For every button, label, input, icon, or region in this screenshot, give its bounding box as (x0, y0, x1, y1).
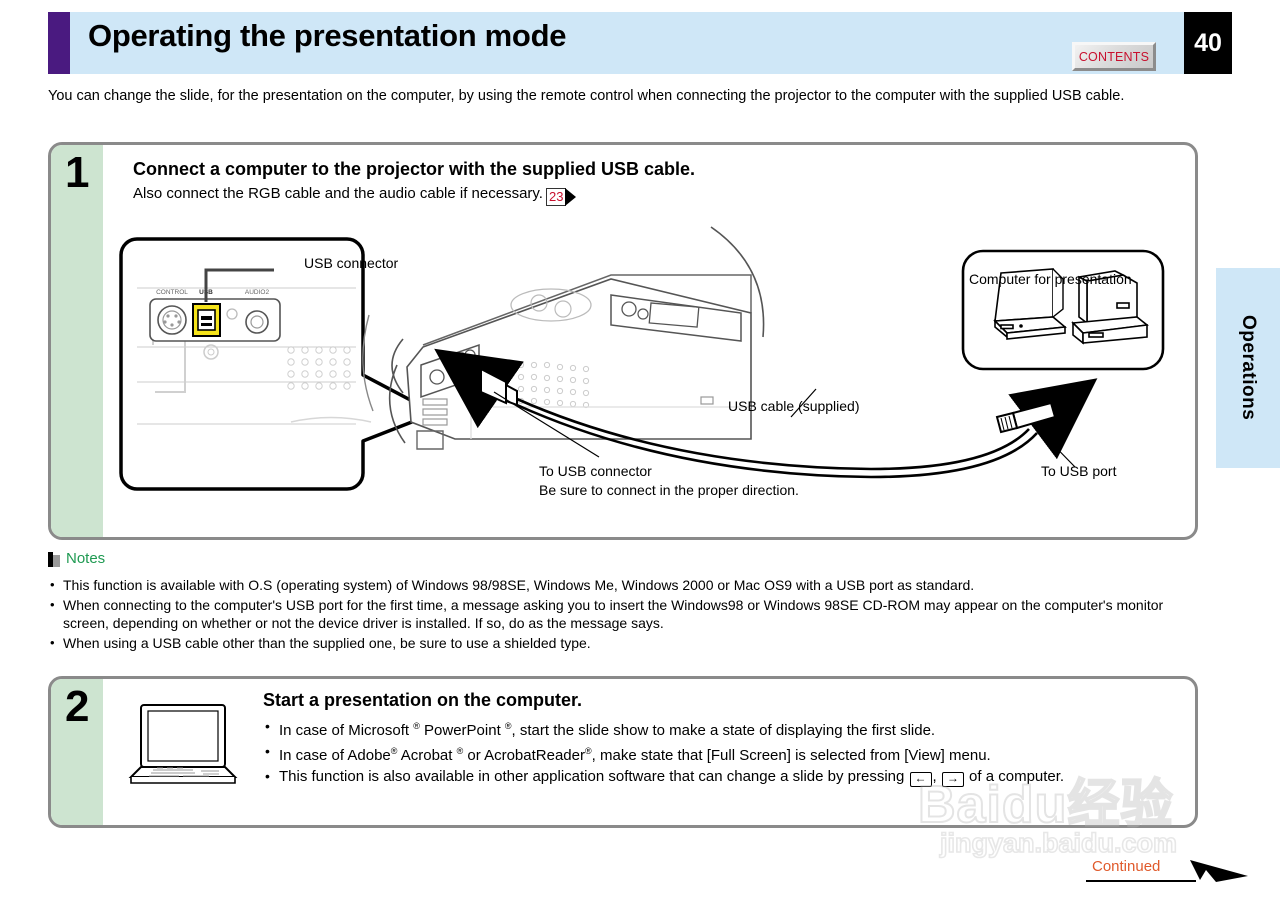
to-usb-port-label: To USB port (1041, 463, 1116, 479)
step-1-subtitle-row: Also connect the RGB cable and the audio… (133, 185, 576, 206)
continued-rule (1086, 880, 1196, 882)
chevron-right-icon (565, 188, 576, 206)
page-reference-number: 23 (546, 188, 566, 206)
bullet-2-part-1: In case of Adobe (279, 747, 391, 764)
continued-label: Continued (1092, 858, 1160, 875)
contents-button[interactable]: CONTENTS (1072, 42, 1156, 71)
sidebar-tab-operations[interactable]: Operations (1216, 268, 1280, 468)
proper-direction-note: Be sure to connect in the proper directi… (539, 482, 799, 498)
port-label-control: CONTROL (156, 289, 188, 296)
registered-mark-icon: ® (505, 721, 512, 731)
header-accent-bar (48, 12, 70, 74)
arrow-right-key-icon: → (942, 772, 964, 787)
projector-illustration (363, 227, 764, 449)
list-item: This function is also available in other… (263, 766, 1178, 787)
step-1-number: 1 (65, 151, 89, 195)
step-1-subtitle: Also connect the RGB cable and the audio… (133, 185, 543, 202)
bullet-1-part-1: In case of Microsoft (279, 722, 413, 739)
step-2-box: 2 Start a presentation on the computer. … (48, 676, 1198, 828)
arrow-left-key-icon: ← (910, 772, 932, 787)
list-item: When using a USB cable other than the su… (48, 634, 1188, 653)
computer-for-presentation-box (963, 251, 1163, 369)
laptop-icon (123, 701, 243, 801)
registered-mark-icon: ® (585, 746, 592, 756)
usb-connector-callout: CONTROL USB AUDIO2 (121, 239, 435, 489)
bullet-1-part-3: , start the slide show to make a state o… (512, 722, 936, 739)
list-item: This function is available with O.S (ope… (48, 576, 1188, 595)
continued-arrow-icon[interactable] (1190, 858, 1250, 884)
watermark-url: jingyan.baidu.com (940, 828, 1177, 859)
computer-usb-plug (997, 389, 1083, 467)
usb-connector-label: USB connector (304, 255, 398, 271)
page-number-badge: 40 (1184, 12, 1232, 74)
registered-mark-icon: ® (413, 721, 420, 731)
bullet-3-separator: , (933, 768, 941, 785)
bullet-2-part-4: , make state that [Full Screen] is selec… (592, 747, 991, 764)
step-1-box: 1 Connect a computer to the projector wi… (48, 142, 1198, 540)
computer-box-label: Computer for presentation (969, 271, 1132, 287)
contents-button-label: CONTENTS (1079, 50, 1149, 64)
bullet-2-part-3: or AcrobatReader (463, 747, 585, 764)
list-item: In case of Microsoft ® PowerPoint ®, sta… (263, 716, 1178, 741)
list-item: When connecting to the computer's USB po… (48, 596, 1188, 633)
to-usb-connector-label: To USB connector (539, 463, 652, 479)
bullet-3-part-1: This function is also available in other… (279, 768, 909, 785)
list-item: In case of Adobe® Acrobat ® or AcrobatRe… (263, 741, 1178, 766)
page-title: Operating the presentation mode (88, 18, 566, 54)
bullet-3-part-2: of a computer. (965, 768, 1064, 785)
sidebar-tab-label: Operations (1237, 315, 1259, 420)
step-2-title: Start a presentation on the computer. (263, 690, 582, 711)
usb-cable-label: USB cable (supplied) (728, 398, 860, 414)
step-1-title: Connect a computer to the projector with… (133, 159, 695, 180)
step-2-list: In case of Microsoft ® PowerPoint ®, sta… (263, 716, 1178, 787)
port-label-audio2: AUDIO2 (245, 289, 270, 296)
notes-heading: Notes (66, 550, 105, 567)
step-2-number: 2 (65, 685, 89, 729)
note-icon (48, 552, 60, 567)
intro-paragraph: You can change the slide, for the presen… (48, 88, 1168, 105)
bullet-2-part-2: Acrobat (397, 747, 456, 764)
notes-list: This function is available with O.S (ope… (48, 576, 1188, 653)
page-reference-link[interactable]: 23 (546, 188, 576, 206)
bullet-1-part-2: PowerPoint (420, 722, 505, 739)
